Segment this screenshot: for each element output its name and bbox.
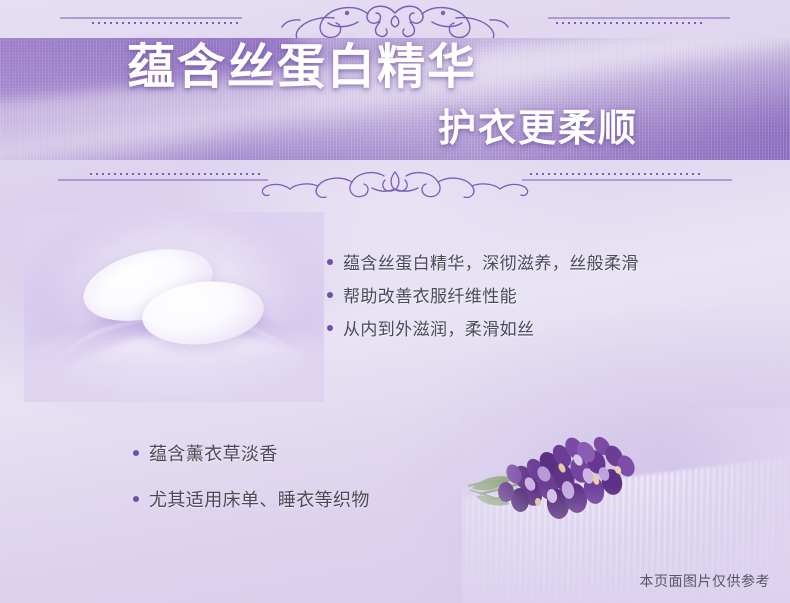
flourish-ornament-icon xyxy=(0,0,790,40)
hero-headline: 蕴含丝蛋白精华 xyxy=(127,44,477,92)
bullet-dot-icon xyxy=(133,450,139,456)
feature-text: 从内到外滋润，柔滑如丝 xyxy=(343,315,534,340)
disclaimer-text: 本页面图片仅供参考 xyxy=(640,571,771,591)
feature-text: 蕴含丝蛋白精华，深彻滋养，丝般柔滑 xyxy=(343,249,639,274)
ornamental-divider-bottom xyxy=(0,160,790,200)
bullet-dot-icon xyxy=(327,325,333,331)
feature-item: 蕴含薰衣草淡香 xyxy=(133,430,370,476)
feature-item: 蕴含丝蛋白精华，深彻滋养，丝般柔滑 xyxy=(327,245,639,278)
image-vignette xyxy=(24,212,324,402)
hero-subheadline: 护衣更柔顺 xyxy=(438,110,638,148)
product-detail-page: 蕴含丝蛋白精华 护衣更柔顺 xyxy=(0,0,790,603)
feature-list-secondary: 蕴含薰衣草淡香 尤其适用床单、睡衣等织物 xyxy=(133,430,370,522)
feature-text: 蕴含薰衣草淡香 xyxy=(149,440,278,466)
ornamental-divider-top xyxy=(0,0,790,40)
feature-item: 从内到外滋润，柔滑如丝 xyxy=(327,311,639,344)
feature-list-primary: 蕴含丝蛋白精华，深彻滋养，丝般柔滑 帮助改善衣服纤维性能 从内到外滋润，柔滑如丝 xyxy=(327,245,639,344)
feature-text: 帮助改善衣服纤维性能 xyxy=(343,282,517,307)
feature-item: 帮助改善衣服纤维性能 xyxy=(327,278,639,311)
bullet-dot-icon xyxy=(327,259,333,265)
bullet-dot-icon xyxy=(327,292,333,298)
bullet-dot-icon xyxy=(133,496,139,502)
flourish-ornament-icon xyxy=(0,160,790,200)
feature-text: 尤其适用床单、睡衣等织物 xyxy=(149,486,370,512)
silk-cocoon-image xyxy=(24,212,324,402)
feature-item: 尤其适用床单、睡衣等织物 xyxy=(133,476,370,522)
